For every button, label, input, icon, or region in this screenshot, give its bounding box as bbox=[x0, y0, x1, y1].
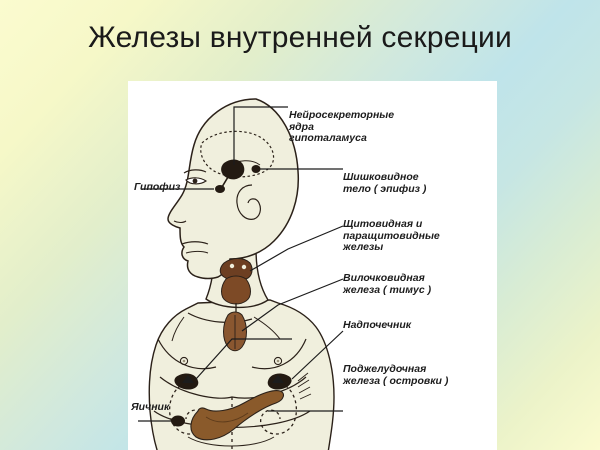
label-hypothalamus: Нейросекреторные ядра гипоталамуса bbox=[289, 110, 394, 145]
label-adrenal-gland: Надпочечник bbox=[343, 320, 411, 332]
slide: Железы внутренней секреции bbox=[0, 0, 600, 450]
label-thymus: Вилочковидная железа ( тимус ) bbox=[343, 273, 431, 296]
page-title: Железы внутренней секреции bbox=[0, 20, 600, 56]
label-ovary: Яичник bbox=[131, 402, 169, 414]
ovary-marker bbox=[171, 416, 185, 427]
label-thyroid-parathyroid: Щитовидная и паращитовидные железы bbox=[343, 219, 440, 254]
label-pituitary: Гипофиз bbox=[134, 182, 180, 194]
label-pancreas: Поджелудочная железа ( островки ) bbox=[343, 364, 448, 387]
label-pineal-body: Шишковидное тело ( эпифиз ) bbox=[343, 172, 426, 195]
